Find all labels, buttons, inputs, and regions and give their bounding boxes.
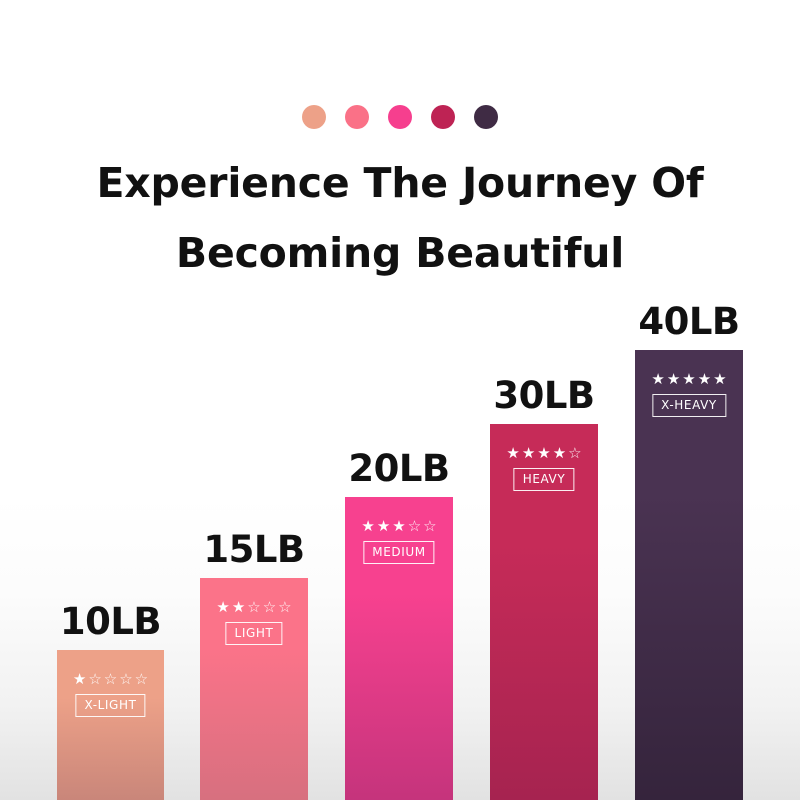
star-filled-icon: ★: [522, 446, 535, 461]
star-rating: ★☆☆☆☆: [73, 672, 148, 687]
star-filled-icon: ★: [506, 446, 519, 461]
star-empty-icon: ☆: [278, 600, 291, 615]
star-filled-icon: ★: [698, 372, 711, 387]
bar-group-15lb[interactable]: 15LB★★☆☆☆LIGHT: [200, 578, 308, 800]
bar-badge: ★★☆☆☆LIGHT: [216, 600, 291, 645]
tier-label: MEDIUM: [363, 541, 434, 564]
star-filled-icon: ★: [553, 446, 566, 461]
star-empty-icon: ☆: [247, 600, 260, 615]
resistance-band-infographic: Experience The Journey Of Becoming Beaut…: [0, 0, 800, 800]
star-empty-icon: ☆: [135, 672, 148, 687]
star-empty-icon: ☆: [119, 672, 132, 687]
bar-group-10lb[interactable]: 10LB★☆☆☆☆X-LIGHT: [57, 650, 164, 800]
star-filled-icon: ★: [73, 672, 86, 687]
star-filled-icon: ★: [713, 372, 726, 387]
bar-fill: ★★☆☆☆LIGHT: [200, 578, 308, 800]
star-filled-icon: ★: [682, 372, 695, 387]
star-empty-icon: ☆: [104, 672, 117, 687]
bar-weight-label: 30LB: [493, 377, 594, 414]
star-empty-icon: ☆: [263, 600, 276, 615]
star-filled-icon: ★: [216, 600, 229, 615]
bar-badge: ★★★★★X-HEAVY: [651, 372, 726, 417]
tier-label: X-LIGHT: [75, 694, 145, 717]
resistance-bar-chart: 10LB★☆☆☆☆X-LIGHT15LB★★☆☆☆LIGHT20LB★★★☆☆M…: [0, 0, 800, 800]
bar-fill: ★★★★★X-HEAVY: [635, 350, 743, 800]
star-empty-icon: ☆: [568, 446, 581, 461]
bar-fill: ★☆☆☆☆X-LIGHT: [57, 650, 164, 800]
star-filled-icon: ★: [651, 372, 664, 387]
bar-weight-label: 10LB: [60, 603, 161, 640]
tier-label: HEAVY: [514, 468, 575, 491]
bar-weight-label: 20LB: [348, 450, 449, 487]
bar-group-40lb[interactable]: 40LB★★★★★X-HEAVY: [635, 350, 743, 800]
star-empty-icon: ☆: [423, 519, 436, 534]
bar-badge: ★☆☆☆☆X-LIGHT: [73, 672, 148, 717]
star-filled-icon: ★: [377, 519, 390, 534]
star-filled-icon: ★: [392, 519, 405, 534]
bar-group-20lb[interactable]: 20LB★★★☆☆MEDIUM: [345, 497, 453, 800]
bar-badge: ★★★☆☆MEDIUM: [361, 519, 436, 564]
star-empty-icon: ☆: [88, 672, 101, 687]
bar-group-30lb[interactable]: 30LB★★★★☆HEAVY: [490, 424, 598, 800]
star-rating: ★★★★☆: [506, 446, 581, 461]
bar-weight-label: 40LB: [638, 303, 739, 340]
star-filled-icon: ★: [537, 446, 550, 461]
star-filled-icon: ★: [232, 600, 245, 615]
bar-fill: ★★★☆☆MEDIUM: [345, 497, 453, 800]
tier-label: X-HEAVY: [652, 394, 726, 417]
bar-badge: ★★★★☆HEAVY: [506, 446, 581, 491]
tier-label: LIGHT: [226, 622, 283, 645]
star-rating: ★★★★★: [651, 372, 726, 387]
star-rating: ★★☆☆☆: [216, 600, 291, 615]
star-filled-icon: ★: [667, 372, 680, 387]
bar-weight-label: 15LB: [203, 531, 304, 568]
star-rating: ★★★☆☆: [361, 519, 436, 534]
star-filled-icon: ★: [361, 519, 374, 534]
star-empty-icon: ☆: [408, 519, 421, 534]
bar-fill: ★★★★☆HEAVY: [490, 424, 598, 800]
